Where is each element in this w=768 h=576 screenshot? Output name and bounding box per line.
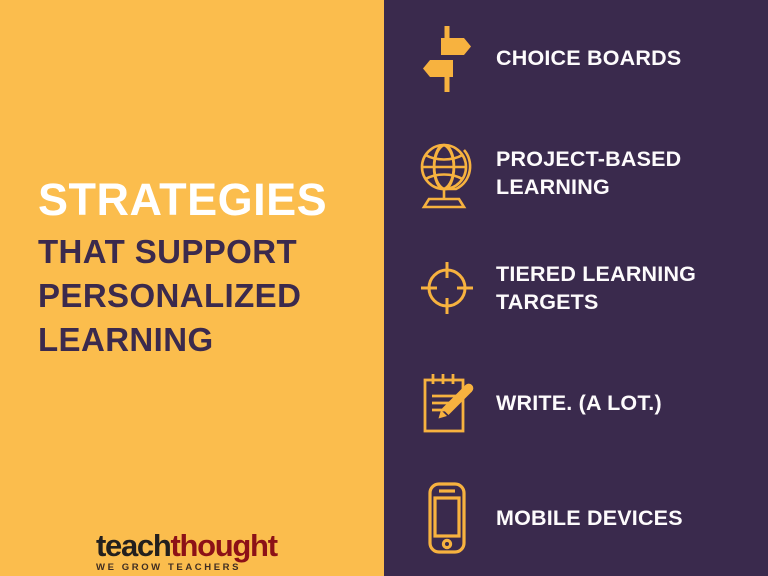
list-item-label-line-1: PROJECT-BASED bbox=[496, 145, 768, 173]
list-item-label: MOBILE DEVICES bbox=[484, 504, 768, 532]
target-crosshair-icon bbox=[410, 258, 484, 318]
left-title-panel: STRATEGIES THAT SUPPORT PERSONALIZED LEA… bbox=[0, 0, 384, 576]
list-item-label: PROJECT-BASED LEARNING bbox=[484, 145, 768, 201]
list-item-label: TIERED LEARNING TARGETS bbox=[484, 260, 768, 316]
list-item: MOBILE DEVICES bbox=[384, 461, 768, 576]
right-strategy-list-panel: CHOICE BOARDS bbox=[384, 0, 768, 576]
list-item: CHOICE BOARDS bbox=[384, 0, 768, 115]
list-item-label: WRITE. (A LOT.) bbox=[484, 389, 768, 417]
brand-logo-tagline: WE GROW TEACHERS bbox=[96, 562, 296, 573]
list-item: TIERED LEARNING TARGETS bbox=[384, 230, 768, 345]
page-title: STRATEGIES bbox=[38, 176, 368, 224]
globe-icon bbox=[410, 137, 484, 209]
mobile-phone-icon bbox=[410, 481, 484, 555]
brand-logo-word-teach: teach bbox=[96, 528, 170, 563]
brand-logo-wordmark: teachthought bbox=[96, 531, 296, 561]
strategy-list: CHOICE BOARDS bbox=[384, 0, 768, 576]
brand-logo: teachthought WE GROW TEACHERS bbox=[96, 531, 296, 573]
page-subtitle-line-2: PERSONALIZED bbox=[38, 274, 368, 318]
list-item-label-line-1: MOBILE DEVICES bbox=[496, 504, 768, 532]
list-item-label-line-1: CHOICE BOARDS bbox=[496, 44, 768, 72]
list-item-label-line-1: TIERED LEARNING bbox=[496, 260, 768, 288]
list-item-label-line-2: LEARNING bbox=[496, 173, 768, 201]
list-item: PROJECT-BASED LEARNING bbox=[384, 115, 768, 230]
signpost-icon bbox=[410, 22, 484, 94]
infographic-canvas: STRATEGIES THAT SUPPORT PERSONALIZED LEA… bbox=[0, 0, 768, 576]
list-item-label-line-2: TARGETS bbox=[496, 288, 768, 316]
list-item-label-line-1: WRITE. (A LOT.) bbox=[496, 389, 768, 417]
page-subtitle-line-3: LEARNING bbox=[38, 318, 368, 362]
headline-block: STRATEGIES THAT SUPPORT PERSONALIZED LEA… bbox=[38, 176, 368, 362]
list-item: WRITE. (A LOT.) bbox=[384, 346, 768, 461]
notepad-pencil-icon bbox=[410, 371, 484, 435]
list-item-label: CHOICE BOARDS bbox=[484, 44, 768, 72]
page-subtitle-line-1: THAT SUPPORT bbox=[38, 230, 368, 274]
brand-logo-word-thought: thought bbox=[170, 528, 276, 563]
page-subtitle: THAT SUPPORT PERSONALIZED LEARNING bbox=[38, 230, 368, 362]
